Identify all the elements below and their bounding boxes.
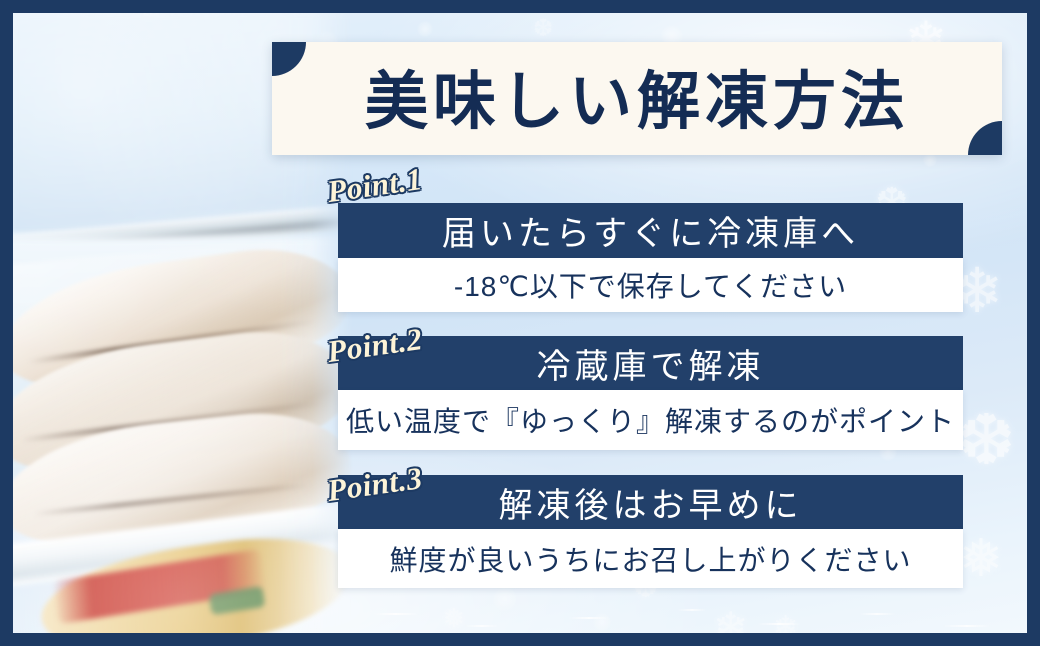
snowflake-icon: ❅ (443, 605, 465, 631)
sparkle-icon (677, 609, 707, 611)
bokeh-dot (417, 21, 433, 37)
snowflake-icon: ❄ (713, 607, 748, 633)
point-block-3: 解凍後はお早めに 鮮度が良いうちにお召し上がりください (338, 475, 963, 588)
point-1-heading: 届いたらすぐに冷凍庫へ (338, 203, 963, 258)
point-block-2: 冷蔵庫で解凍 低い温度で『ゆっくり』解凍するのがポイント (338, 336, 963, 450)
snowflake-icon: ❆ (957, 405, 1016, 475)
snowflake-icon: ❅ (959, 533, 1003, 585)
title-banner: 美味しい解凍方法 (272, 42, 1002, 155)
bokeh-dot (493, 587, 517, 611)
poster-canvas: ❄ ❅ ❆ ❄ ❅ ❆ ❄ ❅ ❆ ❄ ❅ ❆ ❄ ❅ ❆ ❄ (0, 0, 1040, 646)
point-3-body: 鮮度が良いうちにお召し上がりください (338, 529, 963, 588)
sparkle-icon (943, 625, 991, 627)
sparkle-icon (757, 623, 801, 625)
sparkle-icon (859, 613, 895, 615)
snowflake-icon: ❆ (533, 17, 553, 41)
sparkle-icon (373, 613, 419, 615)
point-3-heading: 解凍後はお早めに (338, 475, 963, 529)
point-1-body: -18℃以下で保存してください (338, 258, 963, 312)
page-title: 美味しい解凍方法 (272, 42, 1002, 155)
point-2-body: 低い温度で『ゆっくり』解凍するのがポイント (338, 390, 963, 450)
sparkle-icon (465, 625, 499, 627)
bokeh-dot (593, 613, 611, 631)
bokeh-dot (923, 153, 937, 167)
sparkle-icon (569, 617, 609, 619)
point-block-1: 届いたらすぐに冷凍庫へ -18℃以下で保存してください (338, 203, 963, 312)
point-2-heading: 冷蔵庫で解凍 (338, 336, 963, 390)
snowflake-icon: ❄ (773, 613, 798, 633)
